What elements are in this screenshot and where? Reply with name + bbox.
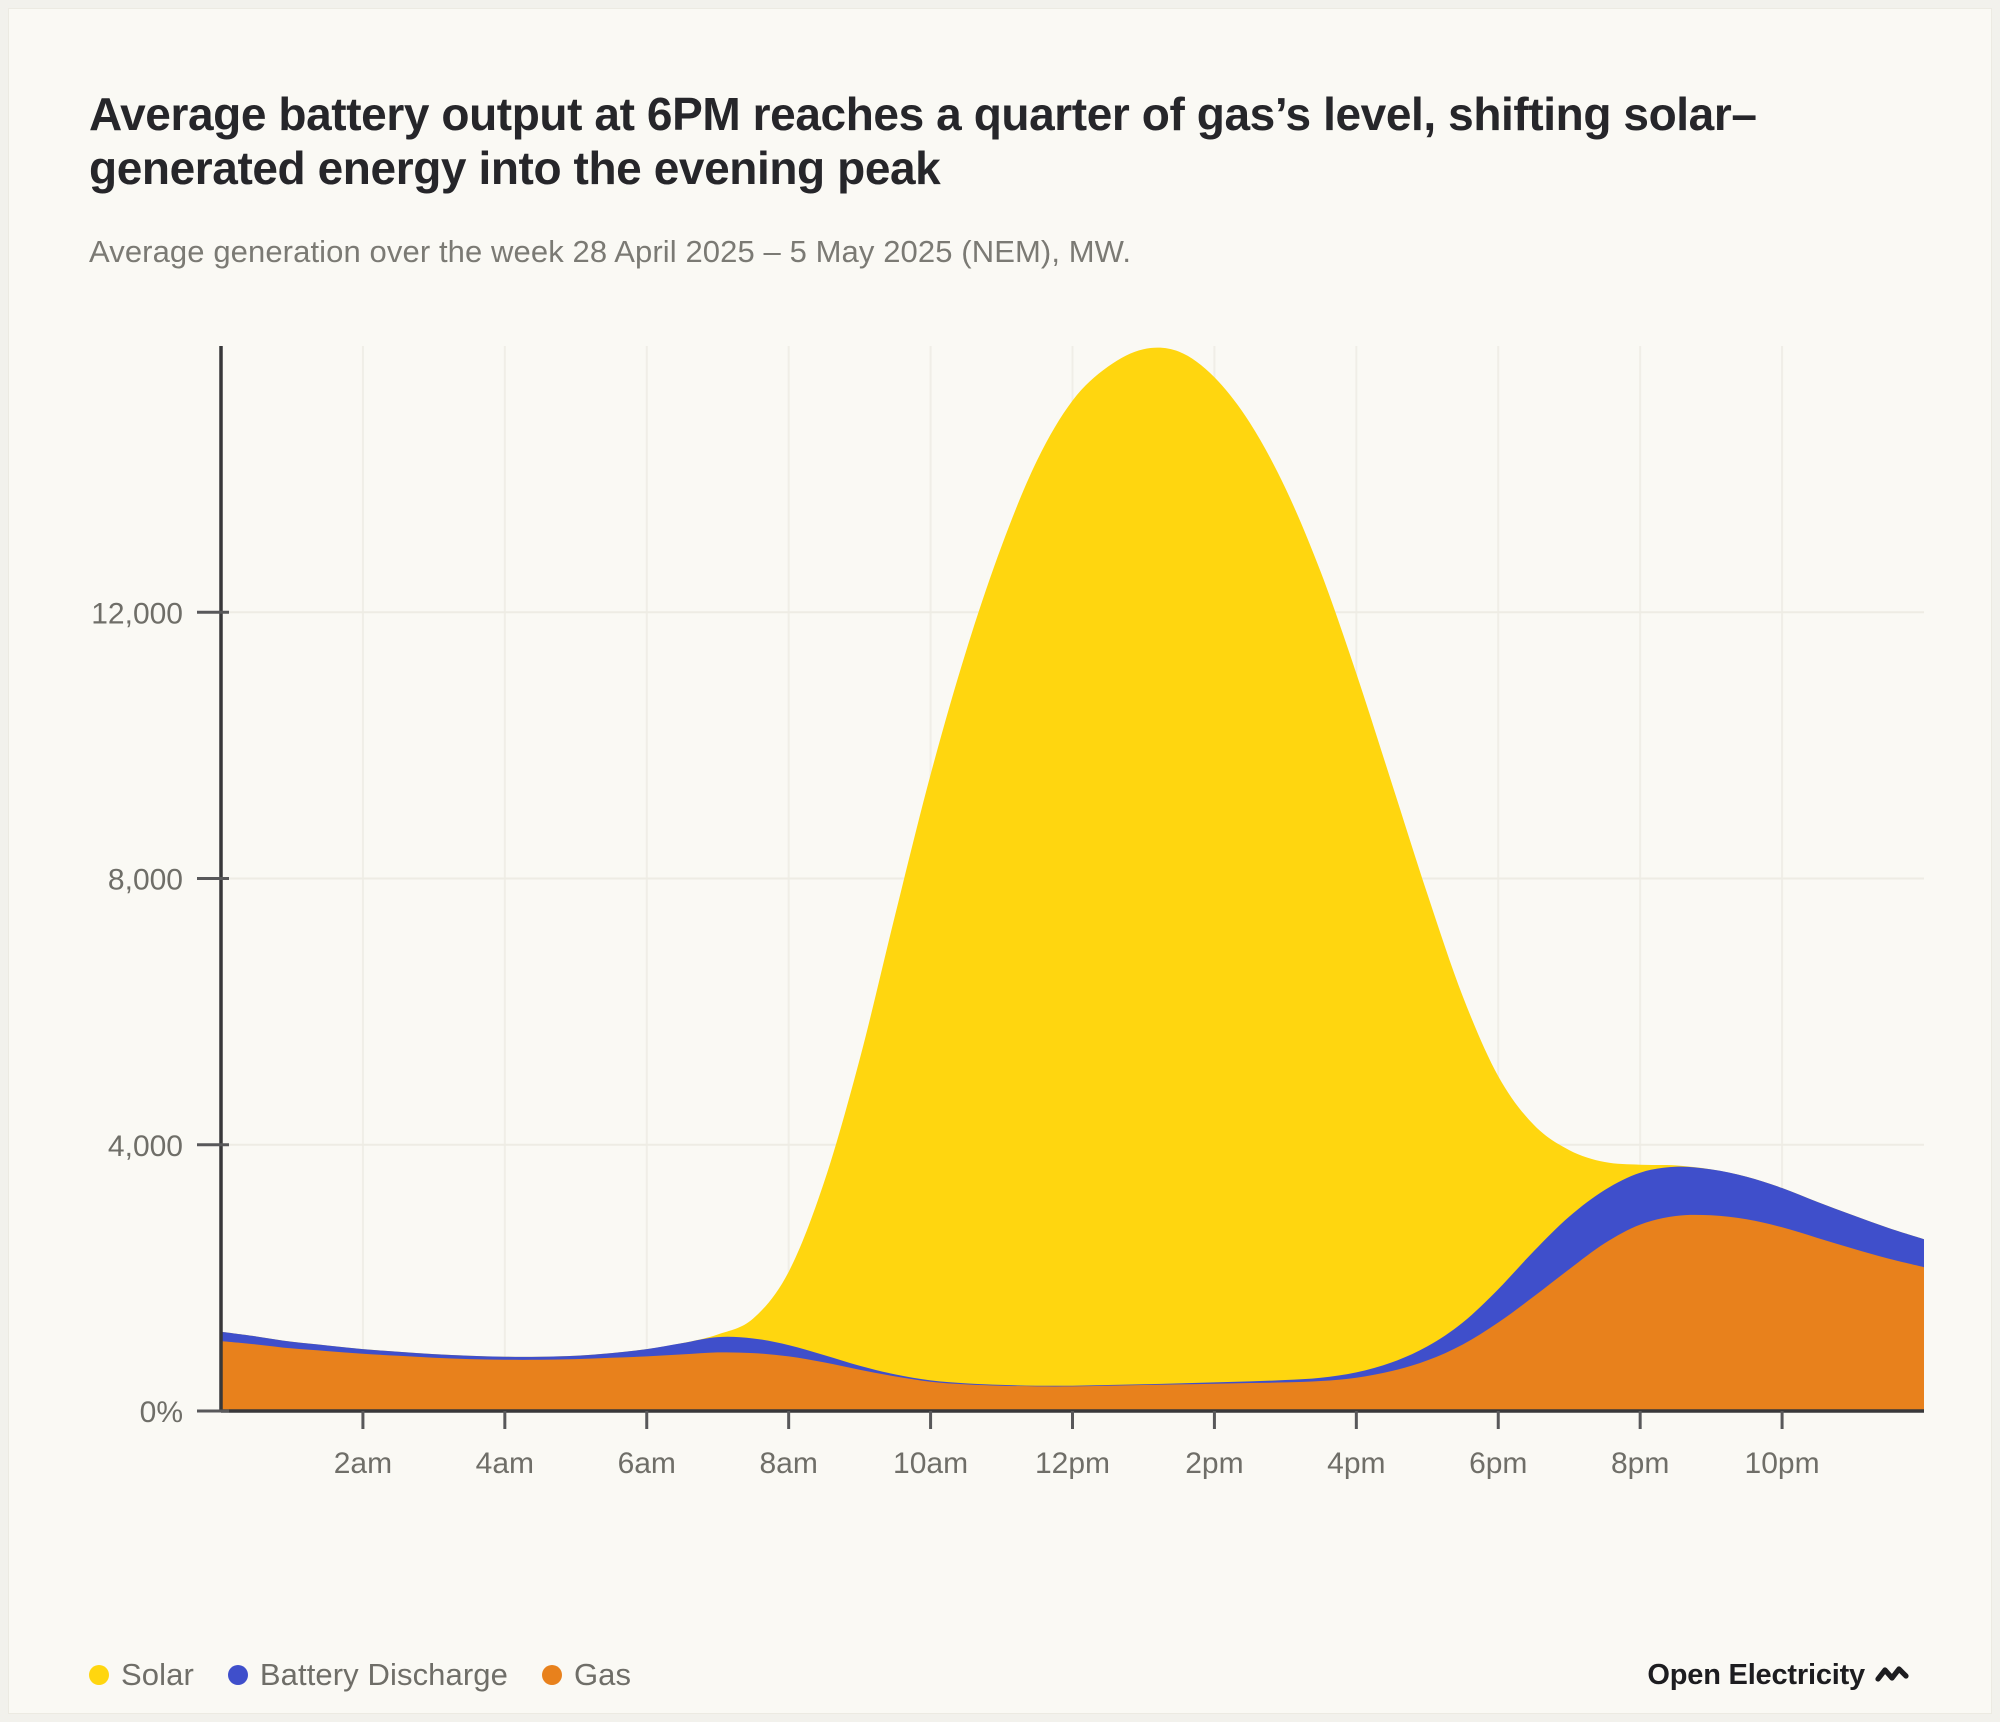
x-tick-label: 4pm xyxy=(1327,1447,1385,1480)
x-tick-label: 10pm xyxy=(1745,1447,1820,1480)
chart-plot-area: 0%4,0008,00012,000 2am4am6am8am10am12pm2… xyxy=(9,9,1992,1714)
brand-name: Open Electricity xyxy=(1647,1659,1865,1692)
y-tick-label: 12,000 xyxy=(91,597,183,630)
x-tick-label: 2am xyxy=(334,1447,392,1480)
wave-squiggle-icon xyxy=(1875,1663,1909,1689)
x-tick-label: 4am xyxy=(476,1447,534,1480)
brand-badge[interactable]: Open Electricity xyxy=(1647,1659,1909,1692)
chart-card: Average battery output at 6PM reaches a … xyxy=(8,8,1992,1714)
y-axis-ticks: 0%4,0008,00012,000 xyxy=(91,597,229,1429)
legend-dot-icon xyxy=(89,1665,109,1685)
legend-item-label: Gas xyxy=(574,1657,631,1693)
legend-item-label: Solar xyxy=(121,1657,194,1693)
legend-item-solar[interactable]: Solar xyxy=(89,1657,194,1693)
x-tick-label: 2pm xyxy=(1185,1447,1243,1480)
x-tick-label: 8pm xyxy=(1611,1447,1669,1480)
x-tick-label: 8am xyxy=(759,1447,817,1480)
legend-dot-icon xyxy=(542,1665,562,1685)
x-axis-ticks: 2am4am6am8am10am12pm2pm4pm6pm8pm10pm xyxy=(334,1411,1820,1480)
chart-legend: Solar Battery Discharge Gas xyxy=(89,1657,631,1693)
legend-item-gas[interactable]: Gas xyxy=(542,1657,631,1693)
x-tick-label: 6pm xyxy=(1469,1447,1527,1480)
legend-item-label: Battery Discharge xyxy=(260,1657,508,1693)
stacked-area-chart[interactable]: 0%4,0008,00012,000 2am4am6am8am10am12pm2… xyxy=(9,9,1992,1714)
y-tick-label: 8,000 xyxy=(108,864,183,897)
legend-dot-icon xyxy=(228,1665,248,1685)
y-tick-label: 4,000 xyxy=(108,1130,183,1163)
legend-item-battery-discharge[interactable]: Battery Discharge xyxy=(228,1657,508,1693)
y-tick-label: 0% xyxy=(140,1396,183,1429)
x-tick-label: 12pm xyxy=(1035,1447,1110,1480)
x-tick-label: 10am xyxy=(893,1447,968,1480)
x-tick-label: 6am xyxy=(618,1447,676,1480)
